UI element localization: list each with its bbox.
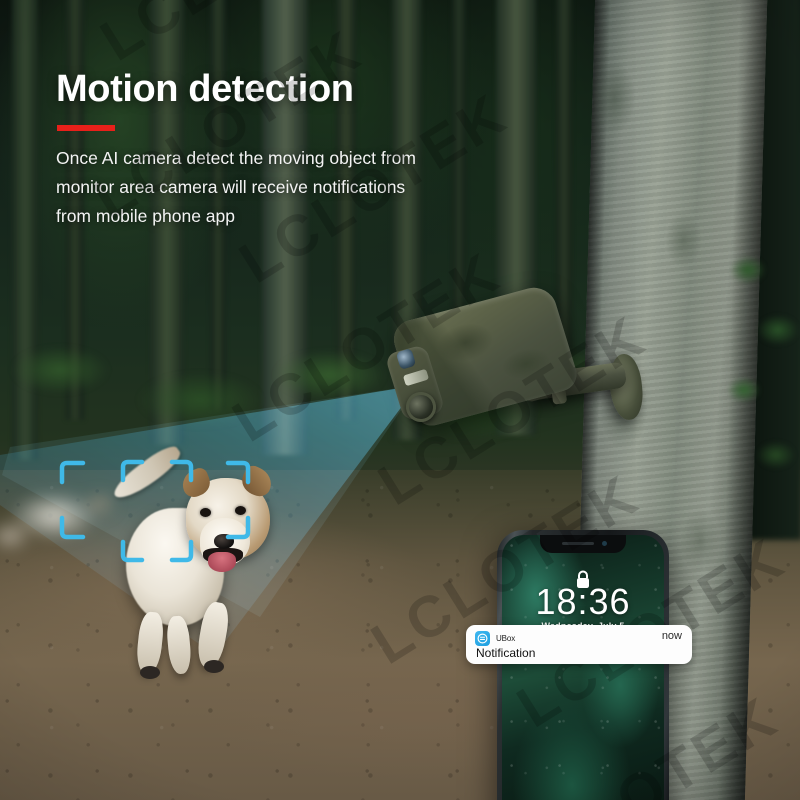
dog-paw [204, 660, 224, 673]
description-text: Once AI camera detect the moving object … [56, 144, 486, 231]
phone-notch [540, 535, 626, 553]
description-line: monitor area camera will receive notific… [56, 173, 486, 202]
notification-timestamp: now [662, 630, 682, 642]
running-dog [104, 452, 284, 682]
accent-divider [57, 125, 115, 131]
dog-tongue [208, 552, 236, 572]
notification-app-name: UBox [496, 634, 515, 643]
right-shrub-foliage [726, 240, 800, 540]
page-title: Motion detection [56, 68, 354, 111]
phone-lockscreen[interactable]: 18:36 Wednesday, July 5 [502, 535, 664, 800]
notification-title: Notification [476, 646, 535, 660]
security-camera [388, 292, 656, 452]
description-line: from mobile phone app [56, 202, 486, 231]
ubox-app-icon [475, 631, 490, 646]
promotional-banner: 18:36 Wednesday, July 5 UBox now Notific… [0, 0, 800, 800]
dog-eye [235, 506, 246, 515]
notification-app-row: UBox [475, 631, 515, 646]
earpiece-speaker-icon [562, 542, 594, 545]
dog-nose [214, 534, 234, 549]
front-camera-icon [602, 541, 607, 546]
description-line: Once AI camera detect the moving object … [56, 144, 486, 173]
notification-banner[interactable]: UBox now Notification [466, 625, 692, 664]
dog-paw [140, 666, 160, 679]
smartphone: 18:36 Wednesday, July 5 [497, 530, 669, 800]
dog-eye [200, 508, 211, 517]
lockscreen-clock: 18:36 [502, 581, 664, 623]
